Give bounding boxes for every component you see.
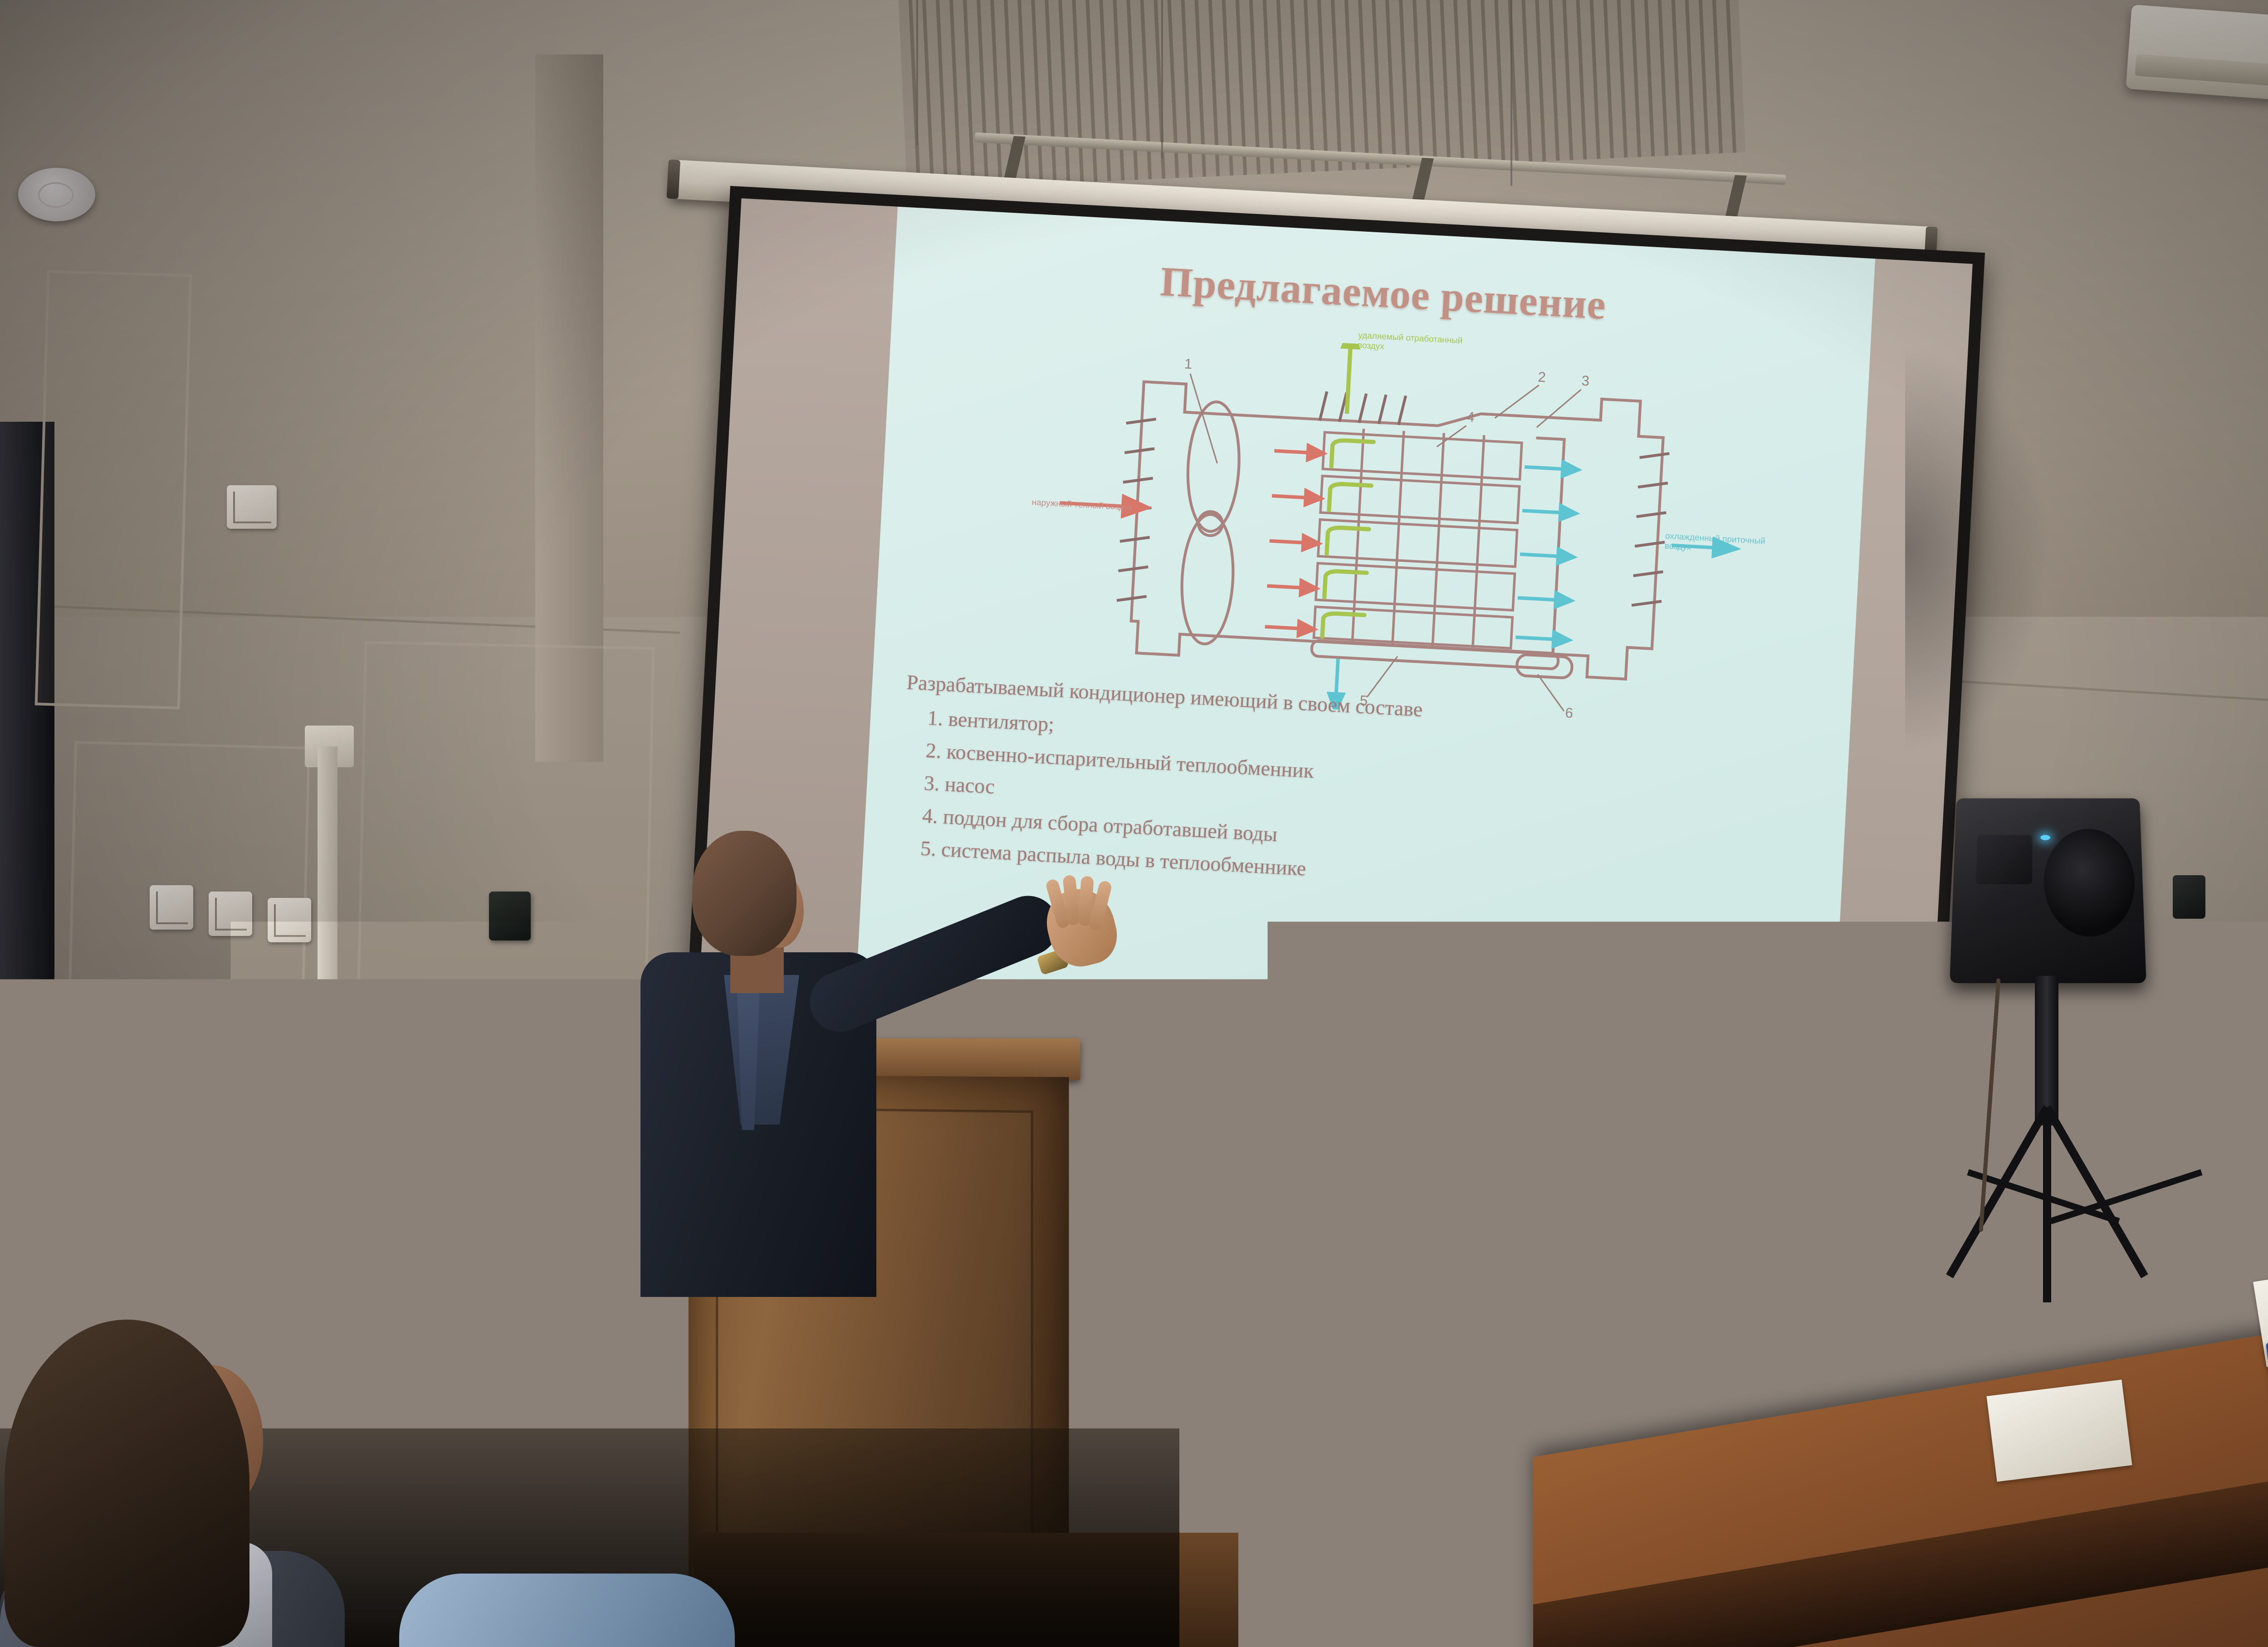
light-switch-2[interactable]	[209, 892, 252, 936]
speaker-horn	[1976, 835, 2033, 884]
presenter-fingers	[1051, 879, 1110, 933]
wall-sensor-right-icon	[2173, 875, 2205, 919]
screen-casing-end-left	[666, 160, 680, 199]
speaker-stand-pole	[2035, 976, 2058, 1126]
light-switch-3[interactable]	[268, 898, 311, 942]
air-conditioner-schematic: 1 2 3 4 5 6 наружный теплый воздух удаля…	[1031, 327, 1752, 693]
svg-text:4: 4	[1466, 409, 1475, 425]
detector-inner-ring	[38, 182, 73, 208]
speaker-woofer	[2044, 829, 2136, 936]
presenter	[617, 803, 1025, 1301]
svg-text:2: 2	[1538, 369, 1546, 385]
speaker-cabinet	[1950, 799, 2146, 983]
audience-member-1-hair	[5, 1320, 249, 1647]
wall-panel-frame-2	[62, 741, 310, 1272]
screen-cast-shadow	[1905, 345, 2050, 753]
pa-speaker	[1946, 794, 2164, 1307]
slide-title: Предлагаемое решение	[962, 247, 1805, 340]
wall-sensor-icon	[489, 892, 531, 940]
presenter-hair	[692, 831, 797, 956]
speaker-power-led	[2040, 835, 2050, 840]
ceiling-wire-2	[1161, 0, 1163, 159]
table-paper-1[interactable]	[1987, 1379, 2132, 1481]
cable-trunking	[318, 746, 337, 1408]
light-switch-1[interactable]	[150, 885, 193, 930]
wall-panel-frame-1	[35, 270, 192, 710]
panel-member	[2245, 1016, 2268, 1306]
presentation-room-photo: Предлагаемое решение	[0, 0, 2268, 1647]
next-track-icon[interactable]	[1106, 1048, 1136, 1077]
audience-member-2-hair	[435, 1323, 689, 1647]
svg-text:3: 3	[1581, 373, 1590, 389]
schematic-svg: 1 2 3 4 5 6	[1029, 327, 1752, 731]
ceiling-wire-3	[1510, 0, 1512, 186]
smoke-detector-icon	[18, 168, 95, 221]
svg-text:1: 1	[1184, 356, 1193, 372]
ceiling-wire-1	[916, 0, 918, 145]
record-icon[interactable]	[1155, 1050, 1185, 1080]
tripod-leg-center	[2043, 1107, 2051, 1302]
wall-outlet-plate[interactable]	[227, 485, 277, 529]
